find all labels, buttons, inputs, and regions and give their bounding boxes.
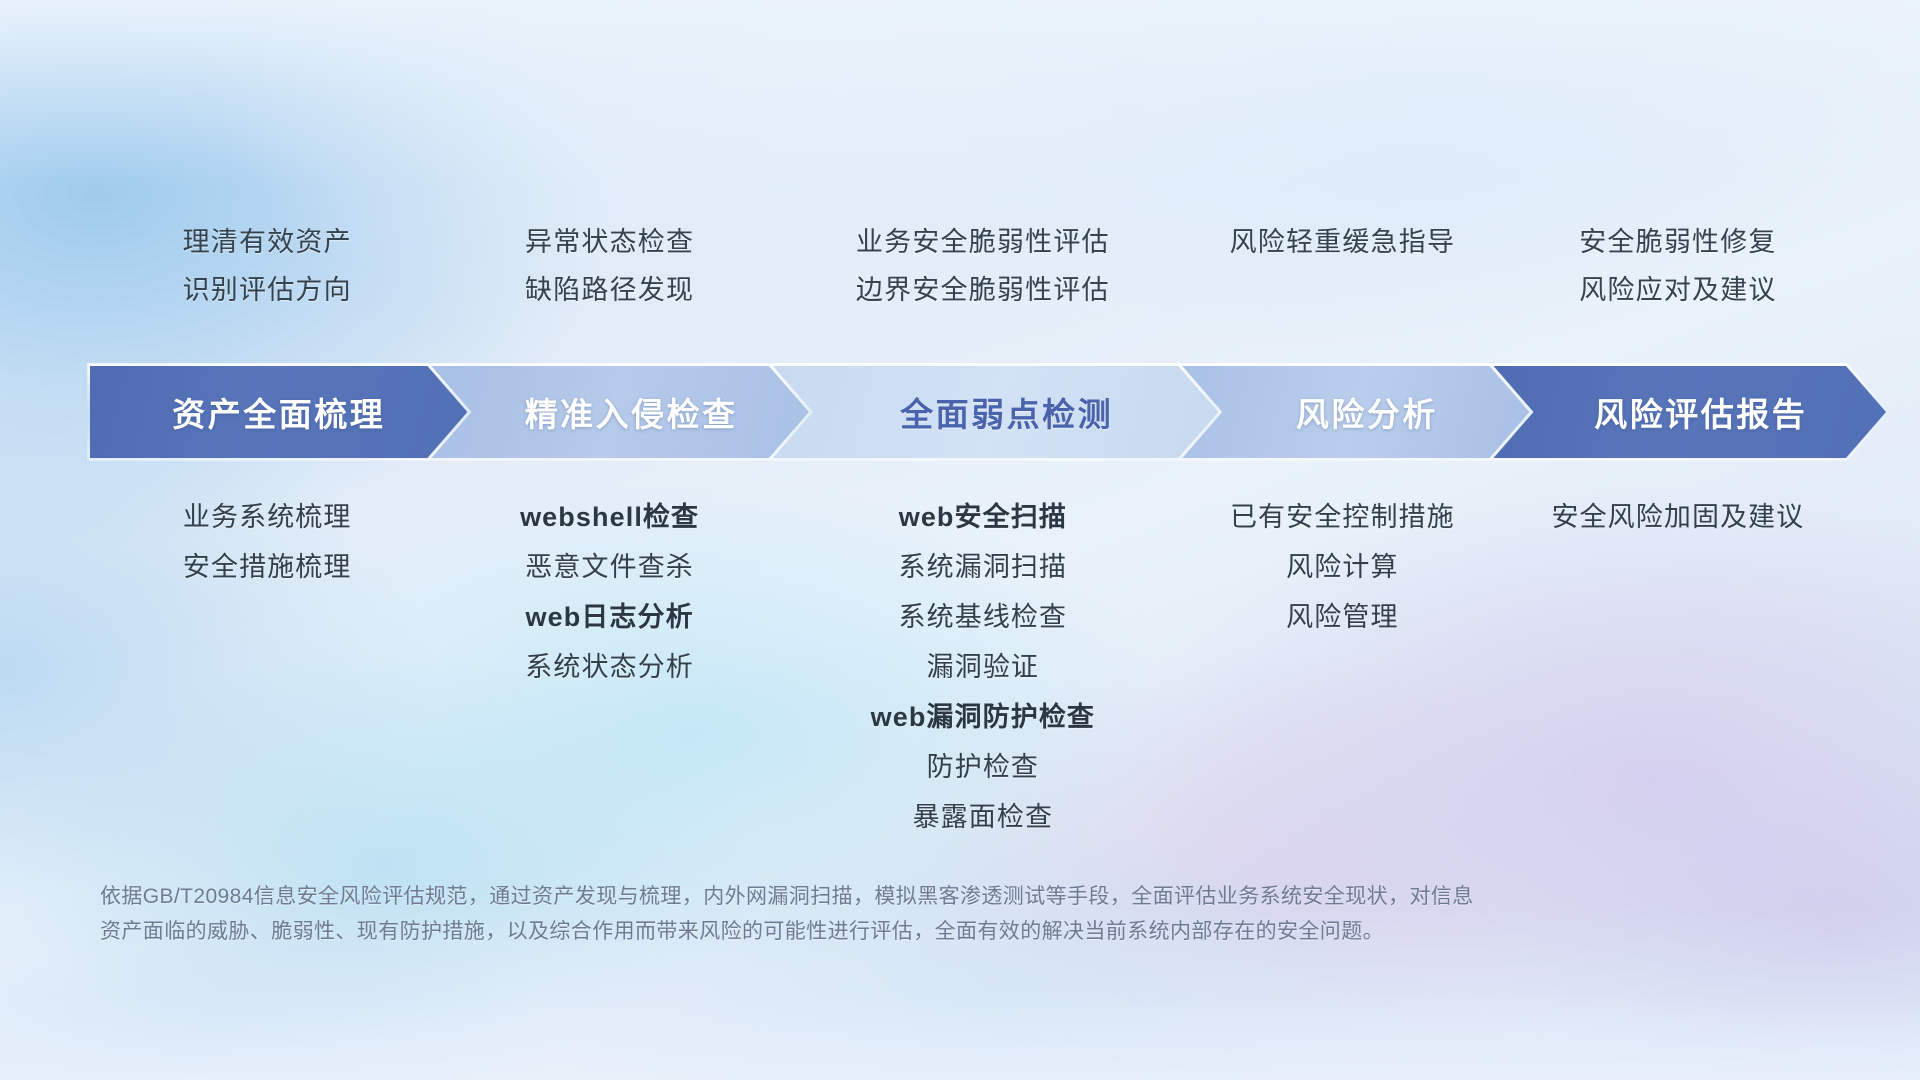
detail-list-item: 安全风险加固及建议 xyxy=(1551,500,1804,534)
top-captions-risk-report: 安全脆弱性修复风险应对及建议 xyxy=(1500,225,1856,307)
top-caption-item: 识别评估方向 xyxy=(183,273,352,307)
detail-list-item: 系统基线检查 xyxy=(899,600,1068,634)
process-step-risk-report[interactable]: 风险评估报告 xyxy=(1493,366,1886,458)
detail-list-risk-analysis: 已有安全控制措施风险计算风险管理 xyxy=(1185,500,1500,634)
top-caption-item: 缺陷路径发现 xyxy=(525,273,694,307)
footer-line-2: 资产面临的威胁、脆弱性、现有防护措施，以及综合作用而带来风险的可能性进行评估，全… xyxy=(100,915,1700,950)
detail-list-item: 漏洞验证 xyxy=(927,650,1039,684)
process-step-title: 全面弱点检测 xyxy=(878,388,1113,436)
footer-description: 依据GB/T20984信息安全风险评估规范，通过资产发现与梳理，内外网漏洞扫描，… xyxy=(100,880,1700,949)
detail-list-item: 安全措施梳理 xyxy=(183,550,352,584)
stage-top-captions-row: 理清有效资产识别评估方向异常状态检查缺陷路径发现业务安全脆弱性评估边界安全脆弱性… xyxy=(96,225,1856,307)
process-step-title: 风险分析 xyxy=(1274,388,1438,436)
detail-list-item: 已有安全控制措施 xyxy=(1230,500,1455,534)
detail-list-item: 风险管理 xyxy=(1286,600,1398,634)
process-step-intrusion-check[interactable]: 精准入侵检查 xyxy=(431,366,808,458)
top-captions-intrusion-check: 异常状态检查缺陷路径发现 xyxy=(438,225,780,307)
process-step-title: 资产全面梳理 xyxy=(172,388,385,436)
top-captions-weakness-detection: 业务安全脆弱性评估边界安全脆弱性评估 xyxy=(781,225,1185,307)
detail-list-item: web日志分析 xyxy=(526,600,694,634)
top-caption-item: 理清有效资产 xyxy=(183,225,352,259)
process-step-asset-inventory[interactable]: 资产全面梳理 xyxy=(90,366,467,458)
detail-list-item: webshell检查 xyxy=(520,500,699,534)
detail-list-item: web漏洞防护检查 xyxy=(871,700,1095,734)
process-step-weakness-detection[interactable]: 全面弱点检测 xyxy=(773,366,1218,458)
detail-list-item: 恶意文件查杀 xyxy=(525,550,694,584)
detail-list-item: 系统漏洞扫描 xyxy=(899,550,1068,584)
detail-list-intrusion-check: webshell检查恶意文件查杀web日志分析系统状态分析 xyxy=(438,500,780,684)
top-caption-item: 边界安全脆弱性评估 xyxy=(856,273,1110,307)
detail-list-item: 防护检查 xyxy=(927,750,1039,784)
top-caption-item: 风险应对及建议 xyxy=(1579,273,1776,307)
process-step-risk-analysis[interactable]: 风险分析 xyxy=(1182,366,1529,458)
top-captions-asset-inventory: 理清有效资产识别评估方向 xyxy=(96,225,438,307)
detail-list-item: 系统状态分析 xyxy=(525,650,694,684)
process-chevron-band: 资产全面梳理精准入侵检查全面弱点检测风险分析风险评估报告 xyxy=(90,366,1850,458)
top-caption-item: 风险轻重缓急指导 xyxy=(1230,225,1456,259)
stage-detail-lists-row: 业务系统梳理安全措施梳理webshell检查恶意文件查杀web日志分析系统状态分… xyxy=(96,500,1856,834)
top-caption-item: 异常状态检查 xyxy=(525,225,694,259)
footer-line-1: 依据GB/T20984信息安全风险评估规范，通过资产发现与梳理，内外网漏洞扫描，… xyxy=(100,880,1700,915)
process-step-title: 风险评估报告 xyxy=(1572,388,1807,436)
detail-list-weakness-detection: web安全扫描系统漏洞扫描系统基线检查漏洞验证web漏洞防护检查防护检查暴露面检… xyxy=(781,500,1185,834)
top-captions-risk-analysis: 风险轻重缓急指导 xyxy=(1185,225,1500,307)
detail-list-item: 业务系统梳理 xyxy=(183,500,352,534)
detail-list-item: 暴露面检查 xyxy=(913,800,1054,834)
process-step-title: 精准入侵检查 xyxy=(503,388,738,436)
detail-list-item: web安全扫描 xyxy=(899,500,1067,534)
detail-list-asset-inventory: 业务系统梳理安全措施梳理 xyxy=(96,500,438,584)
top-caption-item: 安全脆弱性修复 xyxy=(1579,225,1776,259)
detail-list-item: 风险计算 xyxy=(1286,550,1398,584)
detail-list-risk-report: 安全风险加固及建议 xyxy=(1500,500,1856,534)
slide-canvas: 理清有效资产识别评估方向异常状态检查缺陷路径发现业务安全脆弱性评估边界安全脆弱性… xyxy=(0,0,1920,1080)
top-caption-item: 业务安全脆弱性评估 xyxy=(856,225,1110,259)
